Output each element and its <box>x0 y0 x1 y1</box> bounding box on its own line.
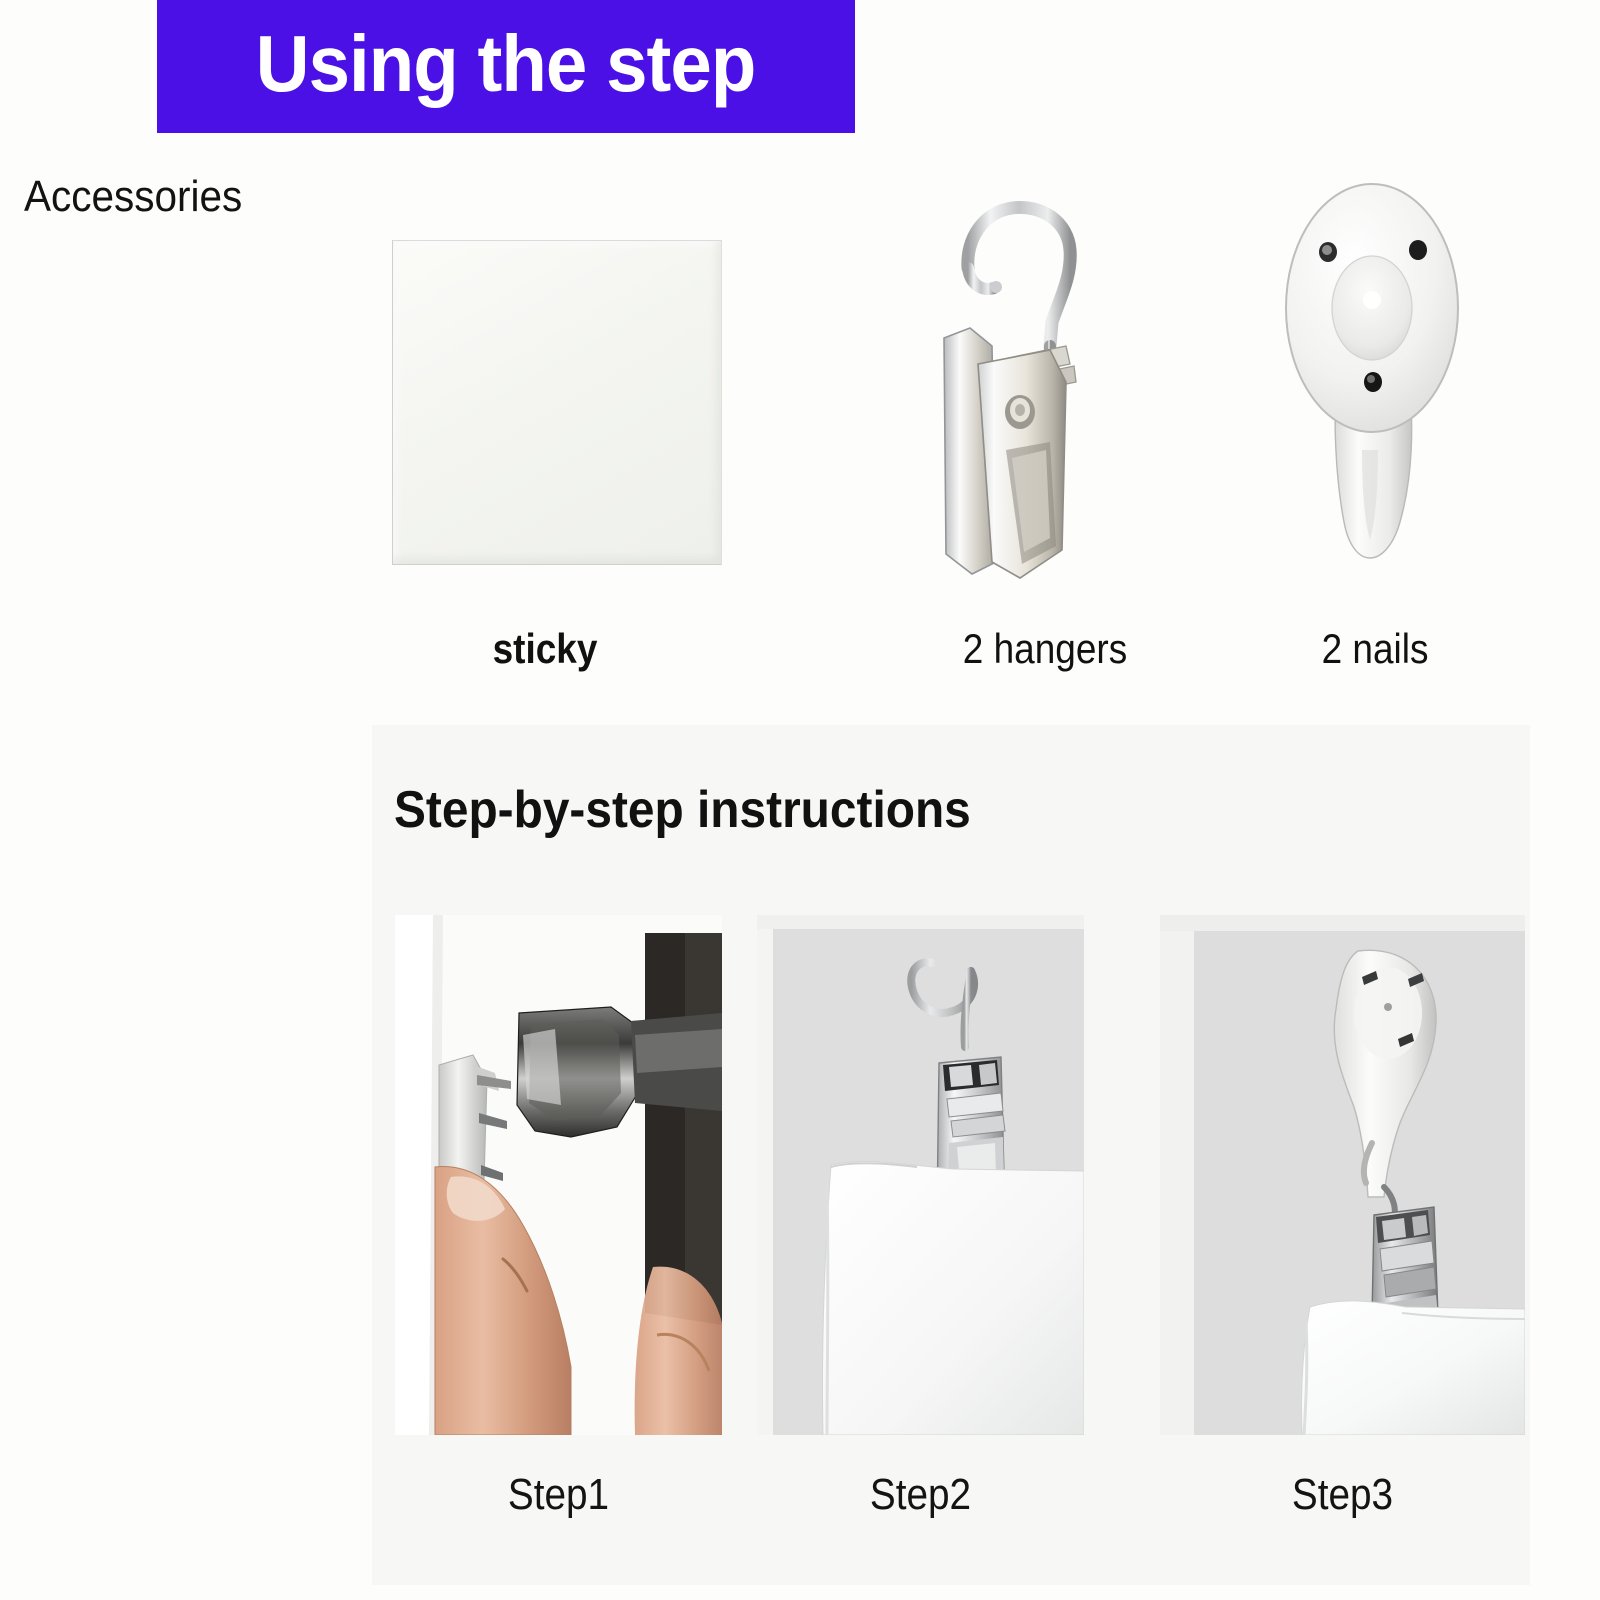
sticky-pad-figure <box>350 150 740 580</box>
wall-hook-icon <box>1230 150 1520 580</box>
step-1-illustration <box>395 915 722 1435</box>
hanger-clip-figure <box>900 150 1190 580</box>
accessory-item-hanger: 2 hangers <box>900 150 1190 670</box>
step-photo-3 <box>1160 915 1525 1435</box>
accessories-row: sticky <box>330 150 1530 670</box>
accessory-item-sticky: sticky <box>350 150 740 670</box>
step-3-illustration <box>1160 915 1525 1435</box>
title-banner: Using the step <box>157 0 855 133</box>
product-instruction-graphic: Using the step Accessories sticky <box>0 0 1600 1600</box>
accessory-item-nail: 2 nails <box>1230 150 1520 670</box>
step-photo-1 <box>395 915 722 1435</box>
step-caption-3: Step3 <box>1182 1470 1503 1520</box>
hanger-clip-icon <box>900 150 1190 580</box>
step-photo-2 <box>757 915 1084 1435</box>
accessory-caption-sticky: sticky <box>373 628 716 670</box>
accessories-section-label: Accessories <box>24 172 242 222</box>
page-title: Using the step <box>256 24 756 110</box>
wall-hook-figure <box>1230 150 1520 580</box>
step-2-illustration <box>757 915 1084 1435</box>
step-by-step-panel: Step-by-step instructions <box>372 725 1530 1585</box>
steps-heading: Step-by-step instructions <box>394 780 971 840</box>
accessory-caption-hanger: 2 hangers <box>917 628 1172 670</box>
step-caption-1: Step1 <box>415 1470 703 1520</box>
accessory-caption-nail: 2 nails <box>1247 628 1502 670</box>
step-caption-2: Step2 <box>777 1470 1065 1520</box>
sticky-pad-icon <box>392 240 722 565</box>
